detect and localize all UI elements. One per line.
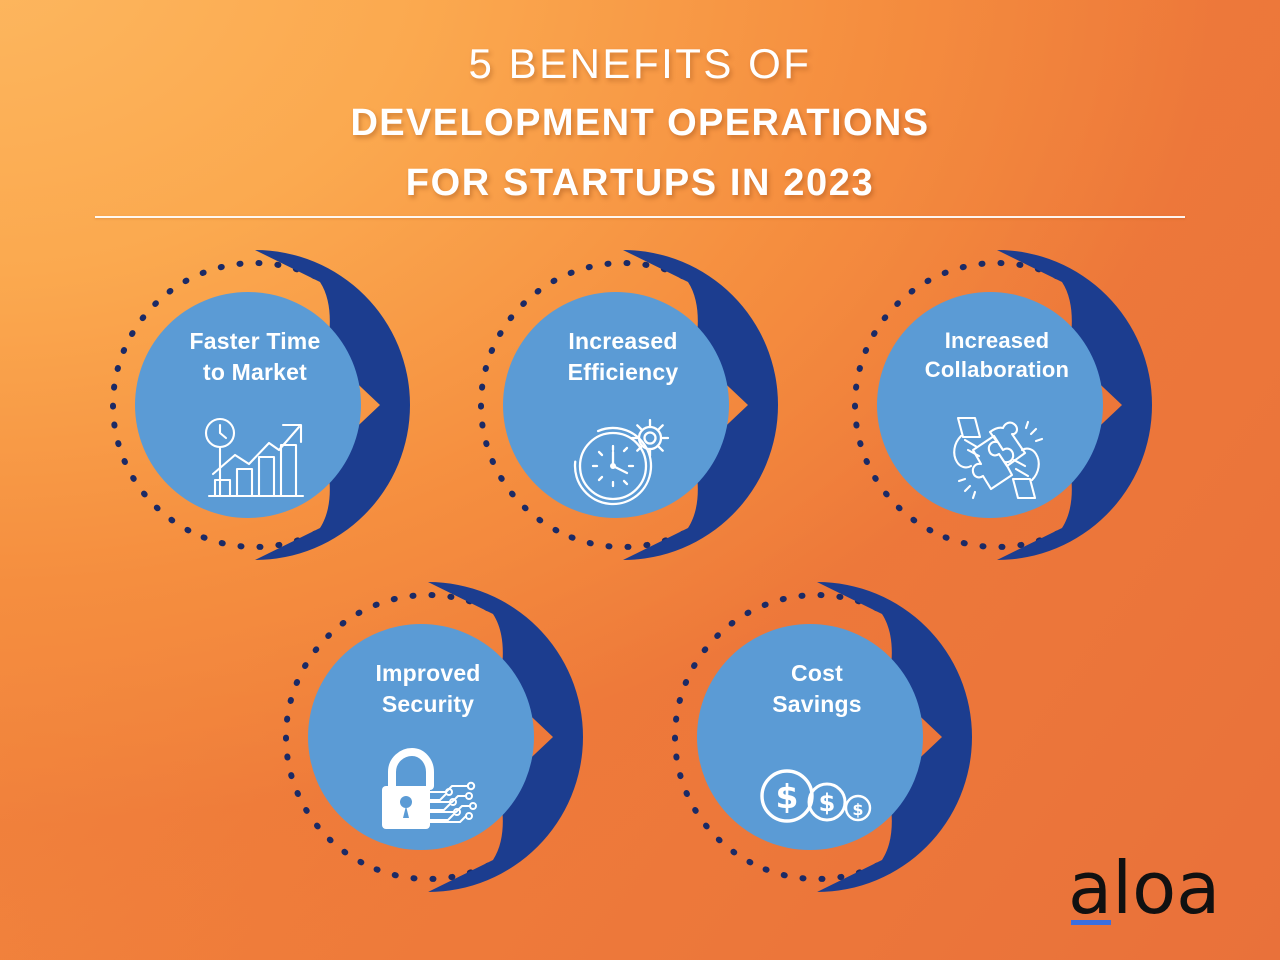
hands-puzzle-icon (937, 412, 1057, 504)
infographic-poster: 5 BENEFITS OF DEVELOPMENT OPERATIONS FOR… (0, 0, 1280, 960)
logo-wordmark: aloa (1068, 852, 1238, 924)
growth-chart-clock-icon (195, 412, 315, 504)
poster-header: 5 BENEFITS OF DEVELOPMENT OPERATIONS FOR… (0, 36, 1280, 214)
logo-accent-underline (1071, 920, 1111, 925)
title-line-3: FOR STARTUPS IN 2023 (0, 153, 1280, 214)
svg-text:$: $ (819, 789, 836, 817)
aloa-logo[interactable]: aloa (1068, 852, 1238, 934)
card-shape (827, 240, 1167, 570)
card-shape (85, 240, 425, 570)
svg-text:$: $ (776, 777, 799, 816)
title-divider (95, 216, 1185, 218)
card-shape (258, 572, 598, 902)
svg-text:$: $ (852, 800, 863, 819)
card-shape (647, 572, 987, 902)
benefit-card-improved-security[interactable]: Improved Security (258, 572, 598, 902)
benefit-card-increased-efficiency[interactable]: Increased Efficiency (453, 240, 793, 570)
title-line-2: DEVELOPMENT OPERATIONS (0, 93, 1280, 154)
card-shape (453, 240, 793, 570)
padlock-circuit-icon (368, 744, 488, 836)
benefit-card-increased-collaboration[interactable]: Increased Collaboration (827, 240, 1167, 570)
dollar-coins-icon: $ $ $ (757, 744, 877, 836)
benefit-card-faster-time-to-market[interactable]: Faster Time to Market (85, 240, 425, 570)
title-line-1: 5 BENEFITS OF (0, 36, 1280, 93)
clock-gear-icon (563, 412, 683, 504)
benefit-card-cost-savings[interactable]: Cost Savings $ $ $ (647, 572, 987, 902)
